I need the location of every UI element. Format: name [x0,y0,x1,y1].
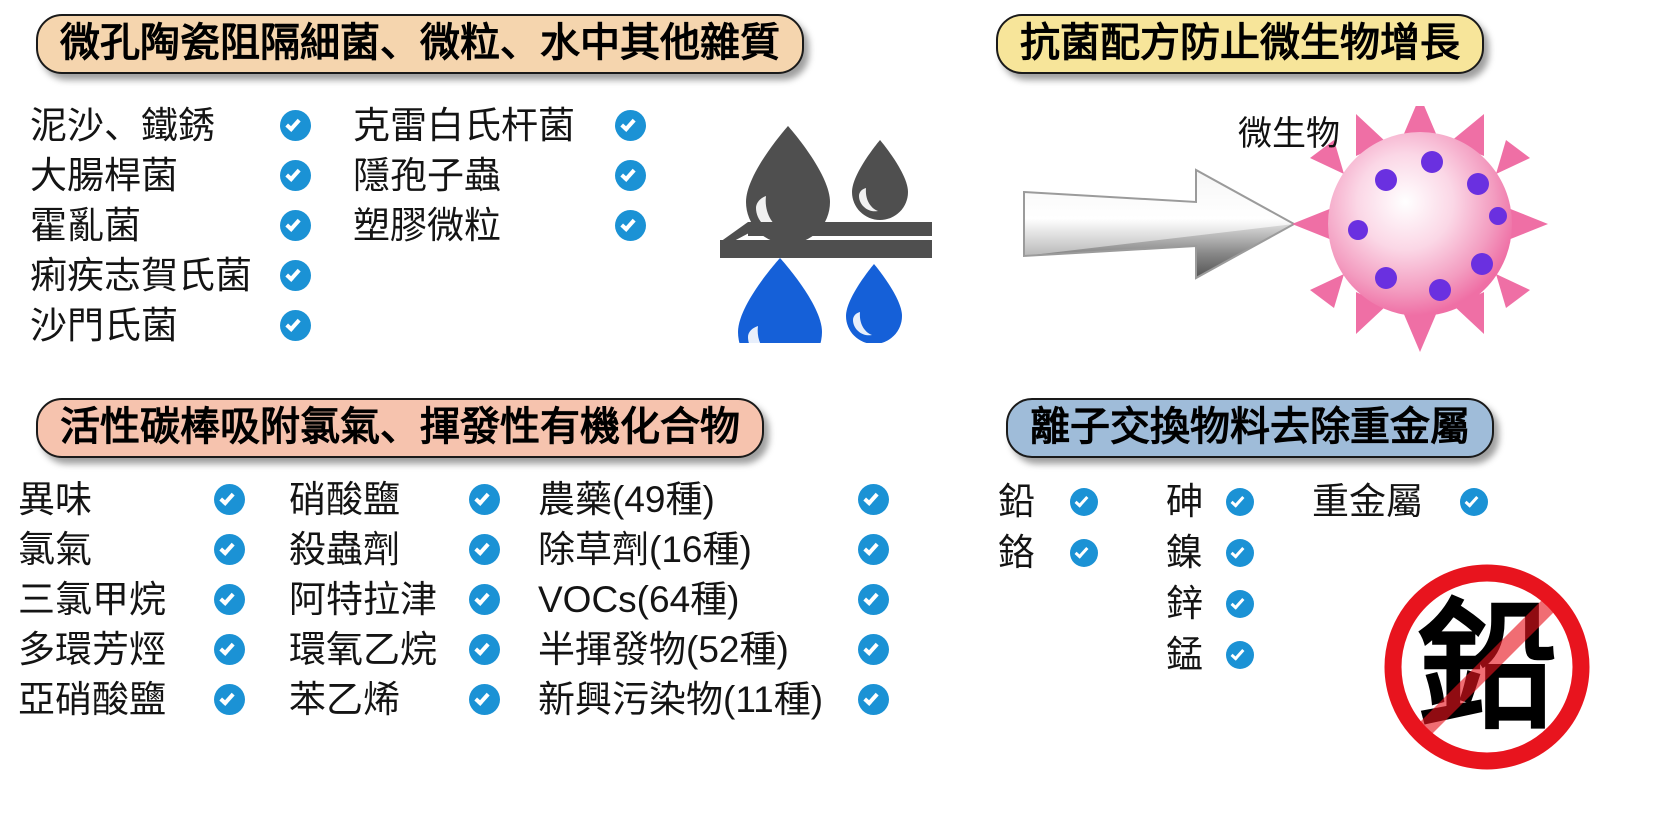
list-item: 重金屬 [1312,476,1488,527]
check-icon [1070,539,1098,567]
list-item: 沙門氏菌 [30,300,311,350]
check-icon [1460,488,1488,516]
list-item-label: 痢疾志賀氏菌 [30,257,280,294]
list-item-label: 錳 [1166,636,1226,673]
list-item-label: 阿特拉津 [289,581,469,618]
check-icon [214,684,245,715]
list-item-label: 鋅 [1166,585,1226,622]
list-item: 隱孢子蟲 [353,150,646,200]
panel-antibacterial: 抗菌配方防止微生物增長 [980,14,1670,389]
check-icon [615,160,646,191]
list-item: 除草劑(16種) [538,524,889,574]
panel-ion-title: 離子交換物料去除重金屬 [1030,407,1470,447]
list-item: 鎳 [1166,527,1254,578]
check-icon [214,584,245,615]
list-item: VOCs(64種) [538,574,889,624]
list-item: 痢疾志賀氏菌 [30,250,311,300]
list-item-label: 鉛 [998,483,1070,520]
list-item: 半揮發物(52種) [538,624,889,674]
list-item: 三氯甲烷 [18,574,245,624]
list-item-label: 塑膠微粒 [353,207,615,244]
list-item-label: 鎳 [1166,534,1226,571]
microbe-label: 微生物 [1238,106,1340,155]
water-filter-droplets-icon [718,118,938,343]
list-item: 泥沙、鐵銹 [30,100,311,150]
check-icon [214,484,245,515]
list-item-label: 殺蟲劑 [289,531,469,568]
list-item-label: 多環芳烴 [18,631,214,668]
list-item: 新興污染物(11種) [538,674,889,724]
no-lead-prohibition-icon: 鉛 [1378,558,1596,776]
list-item-label: 泥沙、鐵銹 [30,107,280,144]
arrow-icon [1024,170,1294,278]
panel-ceramic-filter: 微孔陶瓷阻隔細菌、微粒、水中其他雜質 泥沙、鐵銹 大腸桿菌 霍亂菌 痢疾志賀氏菌 [18,14,978,389]
check-icon [615,110,646,141]
check-icon [1226,641,1254,669]
ceramic-column-1: 泥沙、鐵銹 大腸桿菌 霍亂菌 痢疾志賀氏菌 沙門氏菌 [30,100,311,350]
check-icon [1226,539,1254,567]
panel-carbon-header: 活性碳棒吸附氯氣、揮發性有機化合物 [36,398,764,458]
list-item: 多環芳烴 [18,624,245,674]
list-item: 農藥(49種) [538,474,889,524]
list-item: 鉻 [998,527,1098,578]
panel-carbon-title: 活性碳棒吸附氯氣、揮發性有機化合物 [60,407,740,447]
check-icon [280,260,311,291]
infographic-canvas: 微孔陶瓷阻隔細菌、微粒、水中其他雜質 泥沙、鐵銹 大腸桿菌 霍亂菌 痢疾志賀氏菌 [0,0,1677,827]
list-item: 亞硝酸鹽 [18,674,245,724]
ceramic-list-group: 泥沙、鐵銹 大腸桿菌 霍亂菌 痢疾志賀氏菌 沙門氏菌 [30,100,646,350]
check-icon [469,684,500,715]
check-icon [469,534,500,565]
ion-column-1: 鉛 鉻 [998,476,1098,680]
list-item-label: 大腸桿菌 [30,157,280,194]
panel-antibacterial-header: 抗菌配方防止微生物增長 [996,14,1484,74]
list-item: 硝酸鹽 [289,474,500,524]
list-item: 苯乙烯 [289,674,500,724]
list-item: 鉛 [998,476,1098,527]
list-item-label: 霍亂菌 [30,207,280,244]
list-item-label: 亞硝酸鹽 [18,681,214,718]
list-item-label: 半揮發物(52種) [538,631,858,668]
list-item-label: 異味 [18,481,214,518]
list-item: 錳 [1166,629,1254,680]
list-item: 砷 [1166,476,1254,527]
list-item: 霍亂菌 [30,200,311,250]
list-item: 氯氣 [18,524,245,574]
ion-column-2: 砷 鎳 鋅 錳 [1166,476,1254,680]
check-icon [1226,488,1254,516]
panel-carbon-block: 活性碳棒吸附氯氣、揮發性有機化合物 異味 氯氣 三氯甲烷 多環芳烴 [18,398,978,818]
list-item-label: 硝酸鹽 [289,481,469,518]
list-item-label: 鉻 [998,534,1070,571]
panel-ion-exchange: 離子交換物料去除重金屬 鉛 鉻 砷 鎳 [980,398,1670,818]
list-item: 殺蟲劑 [289,524,500,574]
list-item: 克雷白氏杆菌 [353,100,646,150]
list-item: 環氧乙烷 [289,624,500,674]
list-item-label: 重金屬 [1312,483,1460,520]
check-icon [280,160,311,191]
list-item-label: 沙門氏菌 [30,307,280,344]
carbon-column-1: 異味 氯氣 三氯甲烷 多環芳烴 亞硝酸鹽 [18,474,245,724]
panel-ion-header: 離子交換物料去除重金屬 [1006,398,1494,458]
panel-ceramic-header: 微孔陶瓷阻隔細菌、微粒、水中其他雜質 [36,14,804,74]
list-item: 塑膠微粒 [353,200,646,250]
carbon-column-3: 農藥(49種) 除草劑(16種) VOCs(64種) 半揮發物(52種) 新興污… [538,474,889,724]
list-item: 鋅 [1166,578,1254,629]
check-icon [280,110,311,141]
list-item-label: 三氯甲烷 [18,581,214,618]
check-icon [280,210,311,241]
check-icon [858,584,889,615]
panel-antibacterial-title: 抗菌配方防止微生物增長 [1020,23,1460,63]
list-item-label: 環氧乙烷 [289,631,469,668]
check-icon [469,484,500,515]
list-item-label: 新興污染物(11種) [538,681,858,718]
check-icon [1226,590,1254,618]
check-icon [858,684,889,715]
list-item-label: 砷 [1166,483,1226,520]
check-icon [469,584,500,615]
check-icon [469,634,500,665]
check-icon [280,310,311,341]
list-item-label: 克雷白氏杆菌 [353,107,615,144]
list-item: 異味 [18,474,245,524]
carbon-column-2: 硝酸鹽 殺蟲劑 阿特拉津 環氧乙烷 苯乙烯 [289,474,500,724]
list-item-label: VOCs(64種) [538,581,858,618]
check-icon [214,634,245,665]
list-item-label: 氯氣 [18,531,214,568]
carbon-list-group: 異味 氯氣 三氯甲烷 多環芳烴 亞硝酸鹽 [18,474,889,724]
list-item-label: 除草劑(16種) [538,531,858,568]
check-icon [858,534,889,565]
list-item: 大腸桿菌 [30,150,311,200]
check-icon [214,534,245,565]
check-icon [858,634,889,665]
panel-ceramic-title: 微孔陶瓷阻隔細菌、微粒、水中其他雜質 [60,23,780,63]
check-icon [1070,488,1098,516]
check-icon [615,210,646,241]
list-item-label: 隱孢子蟲 [353,157,615,194]
check-icon [858,484,889,515]
list-item: 阿特拉津 [289,574,500,624]
list-item-label: 苯乙烯 [289,681,469,718]
ceramic-column-2: 克雷白氏杆菌 隱孢子蟲 塑膠微粒 [353,100,646,350]
list-item-label: 農藥(49種) [538,481,858,518]
